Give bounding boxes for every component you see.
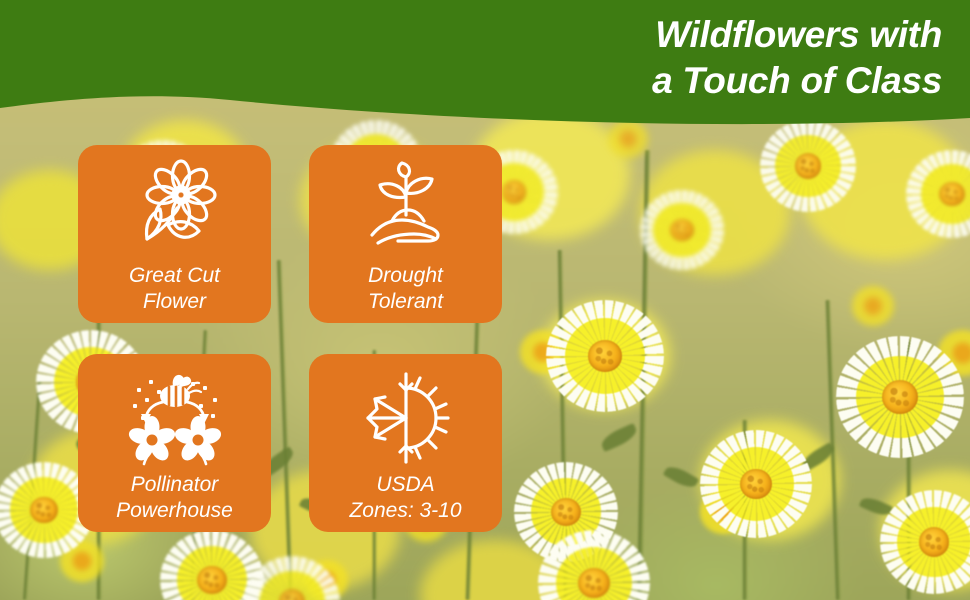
promotional-banner: Wildflowers with a Touch of Class [0, 0, 970, 600]
wildflower-bloom [546, 300, 664, 412]
feature-card-drought-tolerant[interactable]: Drought Tolerant [309, 145, 502, 323]
feature-card-grid: Great Cut Flower [78, 145, 502, 532]
feature-card-label: Great Cut Flower [129, 263, 220, 315]
feature-card-row: Pollinator Powerhouse [78, 354, 502, 532]
feature-card-row: Great Cut Flower [78, 145, 502, 323]
wildflower-bloom [836, 336, 964, 458]
hand-holding-sprout-icon [354, 159, 458, 259]
feature-card-label: Drought Tolerant [368, 263, 443, 315]
page-title: Wildflowers with a Touch of Class [512, 12, 942, 104]
snowflake-sun-icon [354, 368, 458, 468]
background-flower [852, 286, 894, 326]
feature-card-great-cut-flower[interactable]: Great Cut Flower [78, 145, 271, 323]
wildflower-bloom [640, 190, 724, 270]
bee-pollination-icon [123, 368, 227, 468]
daisy-flower-icon [123, 159, 227, 259]
feature-card-usda-zones[interactable]: USDA Zones: 3-10 [309, 354, 502, 532]
feature-card-pollinator-powerhouse[interactable]: Pollinator Powerhouse [78, 354, 271, 532]
wildflower-bloom [700, 430, 812, 538]
feature-card-label: USDA Zones: 3-10 [349, 472, 461, 524]
feature-card-label: Pollinator Powerhouse [116, 472, 233, 524]
